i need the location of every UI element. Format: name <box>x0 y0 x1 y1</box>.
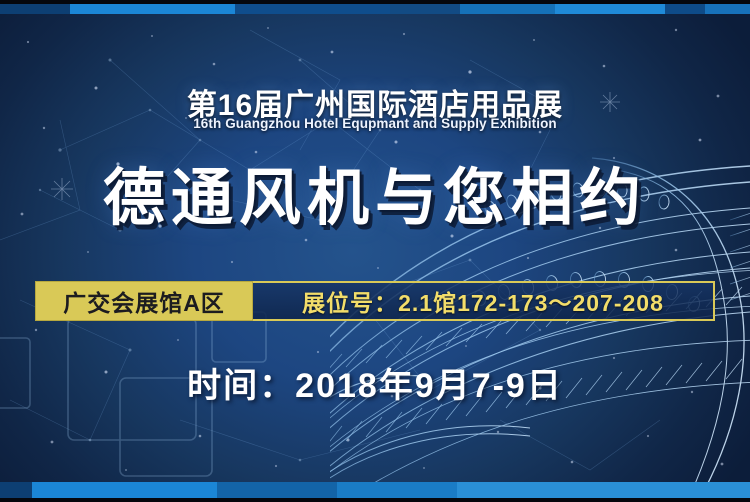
event-date-label: 时间：2018年9月7-9日 <box>0 358 750 407</box>
booth-info-bar: 广交会展馆A区 展位号：2.1馆172-173～207-208 <box>35 281 715 321</box>
booth-number-label: 展位号：2.1馆172-173～207-208 <box>253 281 715 321</box>
poster-content: 第16届广州国际酒店用品展 16th Guangzhou Hotel Equpm… <box>0 0 750 502</box>
exhibition-title-english: 16th Guangzhou Hotel Equpmant and Supply… <box>0 116 750 131</box>
exhibition-poster: 第16届广州国际酒店用品展 16th Guangzhou Hotel Equpm… <box>0 0 750 502</box>
booth-venue-label: 广交会展馆A区 <box>35 281 253 321</box>
poster-headline: 德通风机与您相约 <box>0 163 750 233</box>
